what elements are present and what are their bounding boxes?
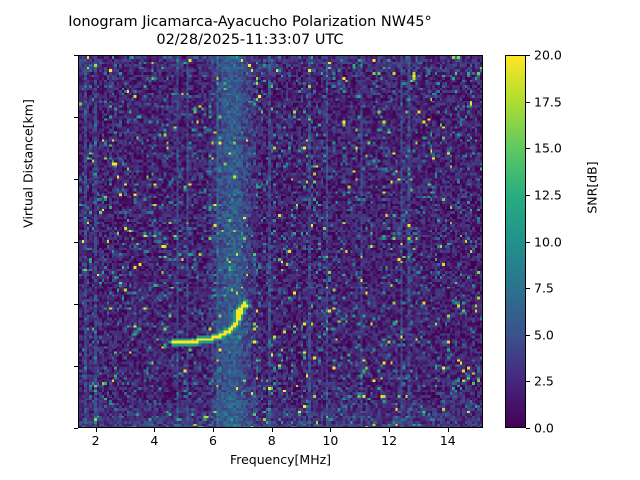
- x-tick-mark: [389, 428, 390, 432]
- x-axis-label: Frequency[MHz]: [78, 452, 483, 467]
- colorbar-label: SNR[dB]: [585, 123, 600, 253]
- x-tick-label: 8: [242, 433, 302, 448]
- ionogram-figure: Ionogram Jicamarca-Ayacucho Polarization…: [0, 0, 640, 480]
- colorbar-tick-mark: [526, 102, 530, 103]
- y-tick-mark: [74, 428, 78, 429]
- x-tick-label: 14: [418, 433, 478, 448]
- colorbar-tick-label: 17.5: [534, 94, 562, 109]
- y-tick-mark: [74, 117, 78, 118]
- x-tick-label: 6: [183, 433, 243, 448]
- x-tick-label: 2: [66, 433, 126, 448]
- colorbar-tick-label: 0.0: [534, 421, 554, 436]
- colorbar-tick-mark: [526, 148, 530, 149]
- colorbar-tick-label: 2.5: [534, 374, 554, 389]
- x-tick-mark: [96, 428, 97, 432]
- colorbar-tick-mark: [526, 335, 530, 336]
- x-tick-mark: [330, 428, 331, 432]
- ionogram-plot-area: [78, 55, 483, 428]
- x-tick-label: 12: [359, 433, 419, 448]
- ionogram-heatmap: [79, 56, 482, 427]
- colorbar-tick-mark: [526, 428, 530, 429]
- colorbar-tick-label: 12.5: [534, 187, 562, 202]
- y-tick-mark: [74, 179, 78, 180]
- colorbar-tick-label: 5.0: [534, 327, 554, 342]
- x-tick-mark: [213, 428, 214, 432]
- y-tick-mark: [74, 55, 78, 56]
- colorbar-tick-mark: [526, 195, 530, 196]
- y-axis-label: Virtual Distance[km]: [21, 84, 36, 244]
- colorbar-tick-label: 20.0: [534, 48, 562, 63]
- colorbar-tick-mark: [526, 381, 530, 382]
- colorbar-tick-mark: [526, 242, 530, 243]
- colorbar-tick-mark: [526, 55, 530, 56]
- x-tick-mark: [154, 428, 155, 432]
- x-tick-label: 10: [300, 433, 360, 448]
- colorbar-tick-label: 10.0: [534, 234, 562, 249]
- y-tick-mark: [74, 304, 78, 305]
- x-tick-mark: [448, 428, 449, 432]
- y-tick-mark: [74, 242, 78, 243]
- colorbar-tick-label: 7.5: [534, 281, 554, 296]
- chart-title-line2: 02/28/2025-11:33:07 UTC: [0, 32, 500, 50]
- chart-title: Ionogram Jicamarca-Ayacucho Polarization…: [0, 14, 500, 49]
- x-tick-mark: [272, 428, 273, 432]
- colorbar-tick-label: 15.0: [534, 141, 562, 156]
- chart-title-line1: Ionogram Jicamarca-Ayacucho Polarization…: [68, 14, 432, 30]
- x-tick-label: 4: [124, 433, 184, 448]
- colorbar-tick-mark: [526, 288, 530, 289]
- colorbar: [505, 55, 526, 428]
- y-tick-mark: [74, 366, 78, 367]
